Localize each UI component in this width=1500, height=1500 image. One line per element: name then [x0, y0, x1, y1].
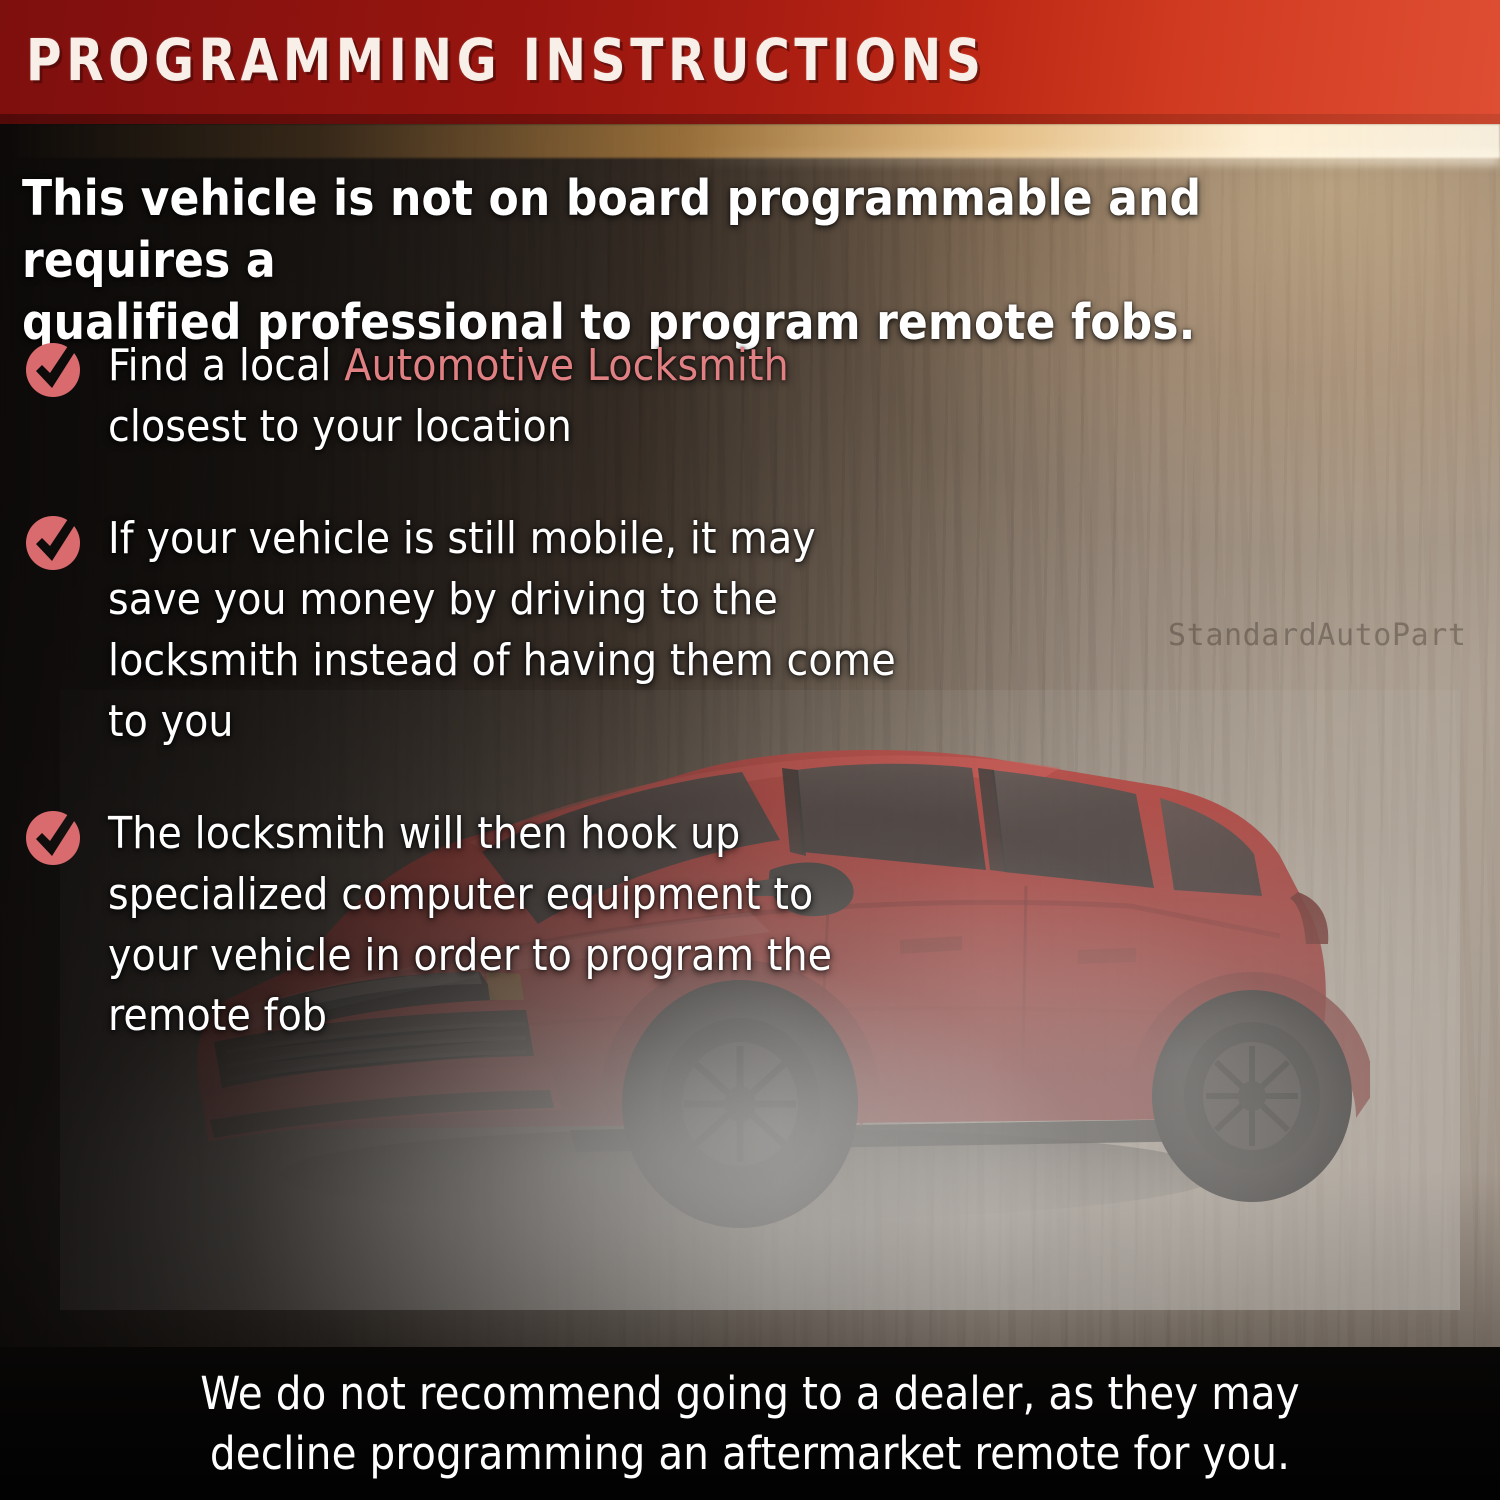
check-circle-icon [22, 511, 84, 573]
watermark: StandardAutoPart [1168, 618, 1467, 653]
page-title: PROGRAMMING INSTRUCTIONS [26, 26, 986, 94]
check-circle-icon [22, 338, 84, 400]
list-item-text-lead: Find a local [108, 340, 344, 391]
list-item-text: The locksmith will then hook up speciali… [108, 804, 900, 1047]
footer-line-2: decline programming an aftermarket remot… [200, 1424, 1299, 1483]
list-item: The locksmith will then hook up speciali… [0, 804, 900, 1047]
list-item-text: If your vehicle is still mobile, it may … [108, 509, 900, 752]
list-item: If your vehicle is still mobile, it may … [0, 509, 900, 752]
footer-bar: We do not recommend going to a dealer, a… [0, 1347, 1500, 1500]
list-item-text: Find a local Automotive Locksmith closes… [108, 336, 900, 457]
check-circle-icon [22, 806, 84, 868]
light-streak-soft [675, 150, 1500, 166]
list-item-text-tail: closest to your location [108, 401, 572, 452]
list-item: Find a local Automotive Locksmith closes… [0, 336, 900, 457]
lead-line-1: This vehicle is not on board programmabl… [22, 168, 1352, 292]
lead-statement: This vehicle is not on board programmabl… [22, 168, 1352, 355]
instruction-list: Find a local Automotive Locksmith closes… [0, 336, 900, 1099]
header-banner: PROGRAMMING INSTRUCTIONS [0, 0, 1500, 124]
footer-line-1: We do not recommend going to a dealer, a… [200, 1364, 1299, 1423]
programming-instructions-poster: PROGRAMMING INSTRUCTIONS This vehicle is… [0, 0, 1500, 1500]
footer-note: We do not recommend going to a dealer, a… [200, 1364, 1299, 1483]
highlight-automotive-locksmith: Automotive Locksmith [344, 340, 789, 391]
